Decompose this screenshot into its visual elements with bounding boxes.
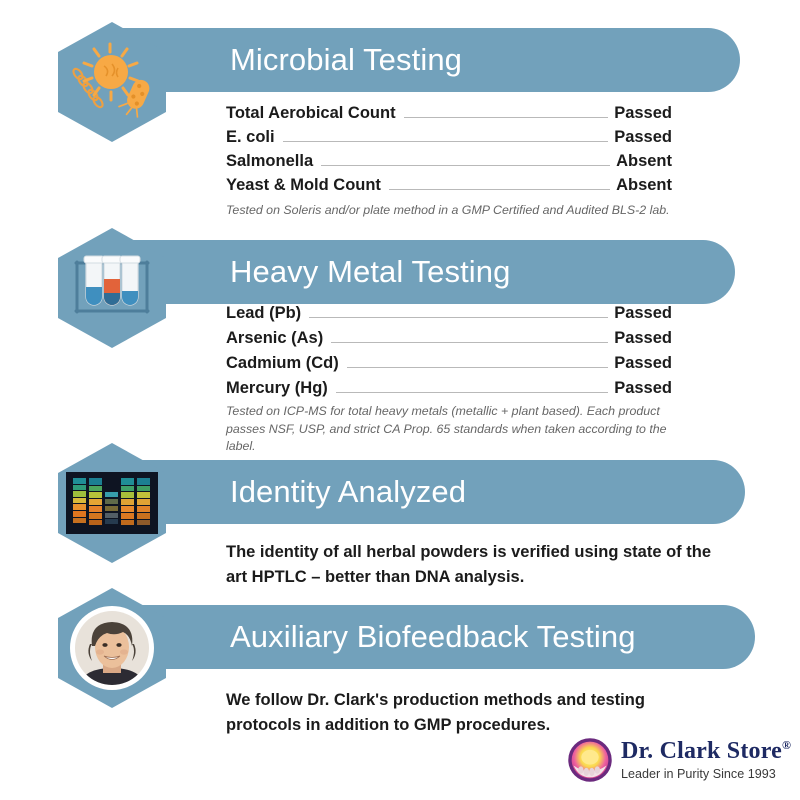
result-value: Passed (614, 304, 672, 323)
section-note: Tested on ICP-MS for total heavy metals … (226, 403, 678, 456)
banner-microbial-testing: Microbial Testing (120, 28, 740, 92)
result-label: Arsenic (As) (226, 329, 323, 348)
result-value: Passed (614, 104, 672, 123)
result-value: Passed (614, 128, 672, 147)
leader-line (309, 317, 608, 318)
infographic-page: Microbial Testing (0, 0, 800, 800)
result-label: Mercury (Hg) (226, 379, 328, 398)
result-row: Salmonella Absent (226, 152, 672, 176)
leader-line (283, 141, 609, 142)
results-list-heavy-metal: Lead (Pb) Passed Arsenic (As) Passed Cad… (226, 304, 672, 404)
banner-identity-analyzed: Identity Analyzed (120, 460, 745, 524)
banner-auxiliary-biofeedback: Auxiliary Biofeedback Testing (120, 605, 755, 669)
result-row: Mercury (Hg) Passed (226, 379, 672, 404)
brand-footer: Dr. Clark Store® Leader in Purity Since … (568, 738, 791, 782)
section-title: Identity Analyzed (230, 474, 466, 510)
result-value: Absent (616, 152, 672, 171)
result-value: Absent (616, 176, 672, 195)
brand-name-text: Dr. Clark Store (621, 738, 782, 764)
section-title: Auxiliary Biofeedback Testing (230, 619, 636, 655)
brand-text: Dr. Clark Store® Leader in Purity Since … (621, 739, 791, 781)
leader-line (336, 392, 608, 393)
gel-electrophoresis-icon (66, 472, 158, 534)
section-title: Microbial Testing (230, 42, 462, 78)
leader-line (404, 117, 609, 118)
result-label: Lead (Pb) (226, 304, 301, 323)
avatar (70, 606, 154, 690)
result-row: E. coli Passed (226, 128, 672, 152)
result-value: Passed (614, 329, 672, 348)
microbe-icon (66, 42, 158, 122)
brand-name: Dr. Clark Store® (621, 739, 791, 763)
result-label: Salmonella (226, 152, 313, 171)
leader-line (321, 165, 610, 166)
result-label: Cadmium (Cd) (226, 354, 339, 373)
result-row: Cadmium (Cd) Passed (226, 354, 672, 379)
result-row: Arsenic (As) Passed (226, 329, 672, 354)
result-row: Total Aerobical Count Passed (226, 104, 672, 128)
brand-tagline: Leader in Purity Since 1993 (621, 768, 791, 781)
dr-clark-sun-logo-icon (568, 738, 612, 782)
result-value: Passed (614, 354, 672, 373)
leader-line (389, 189, 610, 190)
test-tubes-icon (66, 249, 158, 327)
section-body: The identity of all herbal powders is ve… (226, 540, 716, 590)
result-row: Yeast & Mold Count Absent (226, 176, 672, 200)
result-label: E. coli (226, 128, 275, 147)
result-row: Lead (Pb) Passed (226, 304, 672, 329)
section-note: Tested on Soleris and/or plate method in… (226, 202, 678, 220)
portrait-icon (74, 610, 150, 686)
section-body: We follow Dr. Clark's production methods… (226, 688, 716, 738)
leader-line (347, 367, 608, 368)
banner-heavy-metal-testing: Heavy Metal Testing (120, 240, 735, 304)
leader-line (331, 342, 608, 343)
registered-mark: ® (782, 738, 791, 752)
section-title: Heavy Metal Testing (230, 254, 510, 290)
result-value: Passed (614, 379, 672, 398)
results-list-microbial: Total Aerobical Count Passed E. coli Pas… (226, 104, 672, 200)
result-label: Total Aerobical Count (226, 104, 396, 123)
result-label: Yeast & Mold Count (226, 176, 381, 195)
